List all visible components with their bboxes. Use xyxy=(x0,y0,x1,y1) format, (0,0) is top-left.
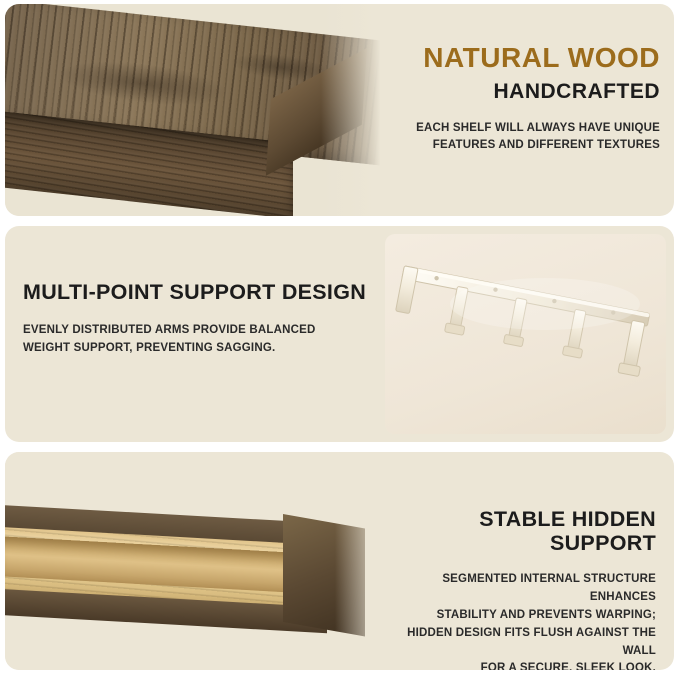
hidden-support-body-line-2: STABILITY AND PREVENTS WARPING; xyxy=(376,607,656,625)
shelf-bracket-graphic xyxy=(385,234,666,434)
multi-point-text-block: MULTI-POINT SUPPORT DESIGN EVENLY DISTRI… xyxy=(5,226,385,442)
product-feature-infographic: NATURAL WOOD HANDCRAFTED EACH SHELF WILL… xyxy=(0,0,679,674)
hidden-support-body-line-1: SEGMENTED INTERNAL STRUCTURE ENHANCES xyxy=(376,571,656,607)
natural-wood-body-line-1: EACH SHELF WILL ALWAYS HAVE UNIQUE xyxy=(416,120,660,137)
multi-point-body-line-1: EVENLY DISTRIBUTED ARMS PROVIDE BALANCED xyxy=(23,322,323,340)
hidden-support-photo xyxy=(5,452,395,670)
photo-right-fade xyxy=(321,4,391,216)
heading-natural-wood: NATURAL WOOD xyxy=(423,44,660,72)
panel-natural-wood: NATURAL WOOD HANDCRAFTED EACH SHELF WILL… xyxy=(5,4,674,216)
panel-multi-point-support: MULTI-POINT SUPPORT DESIGN EVENLY DISTRI… xyxy=(5,226,674,442)
hidden-support-body: SEGMENTED INTERNAL STRUCTURE ENHANCES ST… xyxy=(376,571,656,670)
natural-wood-text-block: NATURAL WOOD HANDCRAFTED EACH SHELF WILL… xyxy=(397,4,674,216)
multi-point-body: EVENLY DISTRIBUTED ARMS PROVIDE BALANCED… xyxy=(23,322,323,358)
panel-stable-hidden-support: STABLE HIDDEN SUPPORT SEGMENTED INTERNAL… xyxy=(5,452,674,670)
heading-multi-point-support: MULTI-POINT SUPPORT DESIGN xyxy=(23,280,367,305)
natural-wood-photo xyxy=(5,4,391,216)
heading-stable-hidden-support: STABLE HIDDEN SUPPORT xyxy=(374,508,656,555)
natural-wood-body: EACH SHELF WILL ALWAYS HAVE UNIQUE FEATU… xyxy=(416,120,660,155)
bracket-photo xyxy=(385,234,666,434)
hidden-support-text-block: STABLE HIDDEN SUPPORT SEGMENTED INTERNAL… xyxy=(374,452,664,670)
hidden-support-body-line-3: HIDDEN DESIGN FITS FLUSH AGAINST THE WAL… xyxy=(376,625,656,661)
natural-wood-body-line-2: FEATURES AND DIFFERENT TEXTURES xyxy=(416,137,660,154)
heading-handcrafted: HANDCRAFTED xyxy=(494,81,661,102)
shelf-cutaway-graphic xyxy=(5,504,375,622)
multi-point-body-line-2: WEIGHT SUPPORT, PREVENTING SAGGING. xyxy=(23,340,323,358)
hidden-support-body-line-4: FOR A SECURE, SLEEK LOOK. xyxy=(376,660,656,670)
